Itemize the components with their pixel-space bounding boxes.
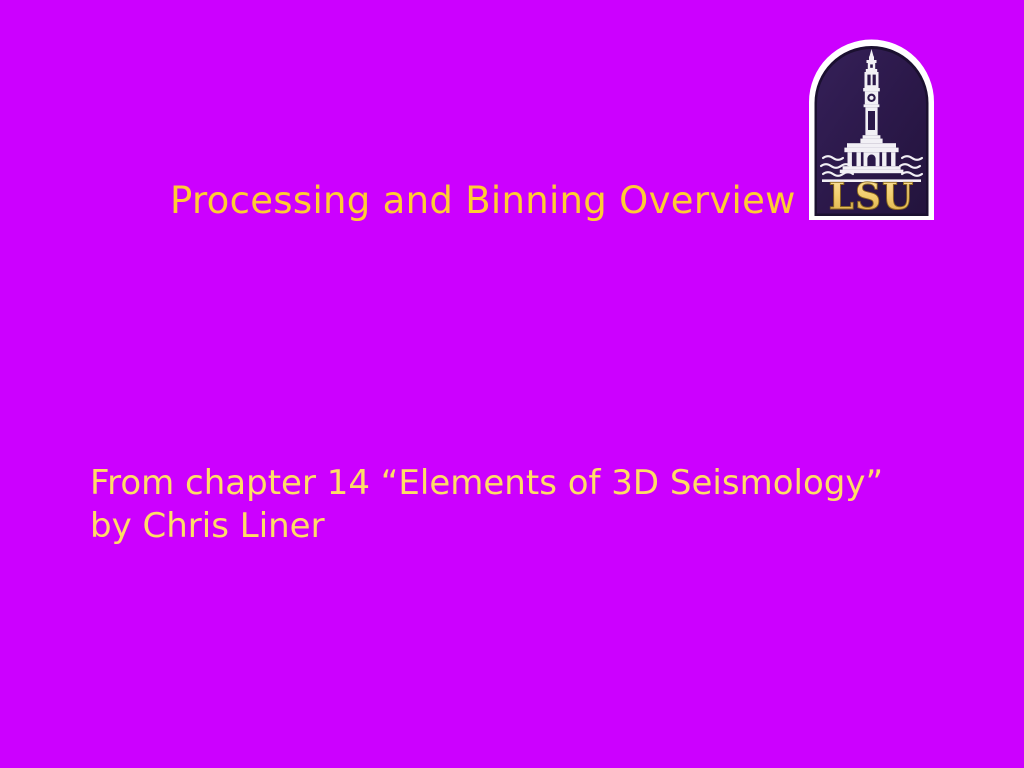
- slide-canvas: LSU Processing and Binning Overview From…: [0, 0, 1024, 768]
- slide-title: Processing and Binning Overview: [170, 180, 830, 223]
- logo-wordmark: LSU: [829, 176, 915, 218]
- slide-body-text: From chapter 14 “Elements of 3D Seismolo…: [90, 462, 920, 547]
